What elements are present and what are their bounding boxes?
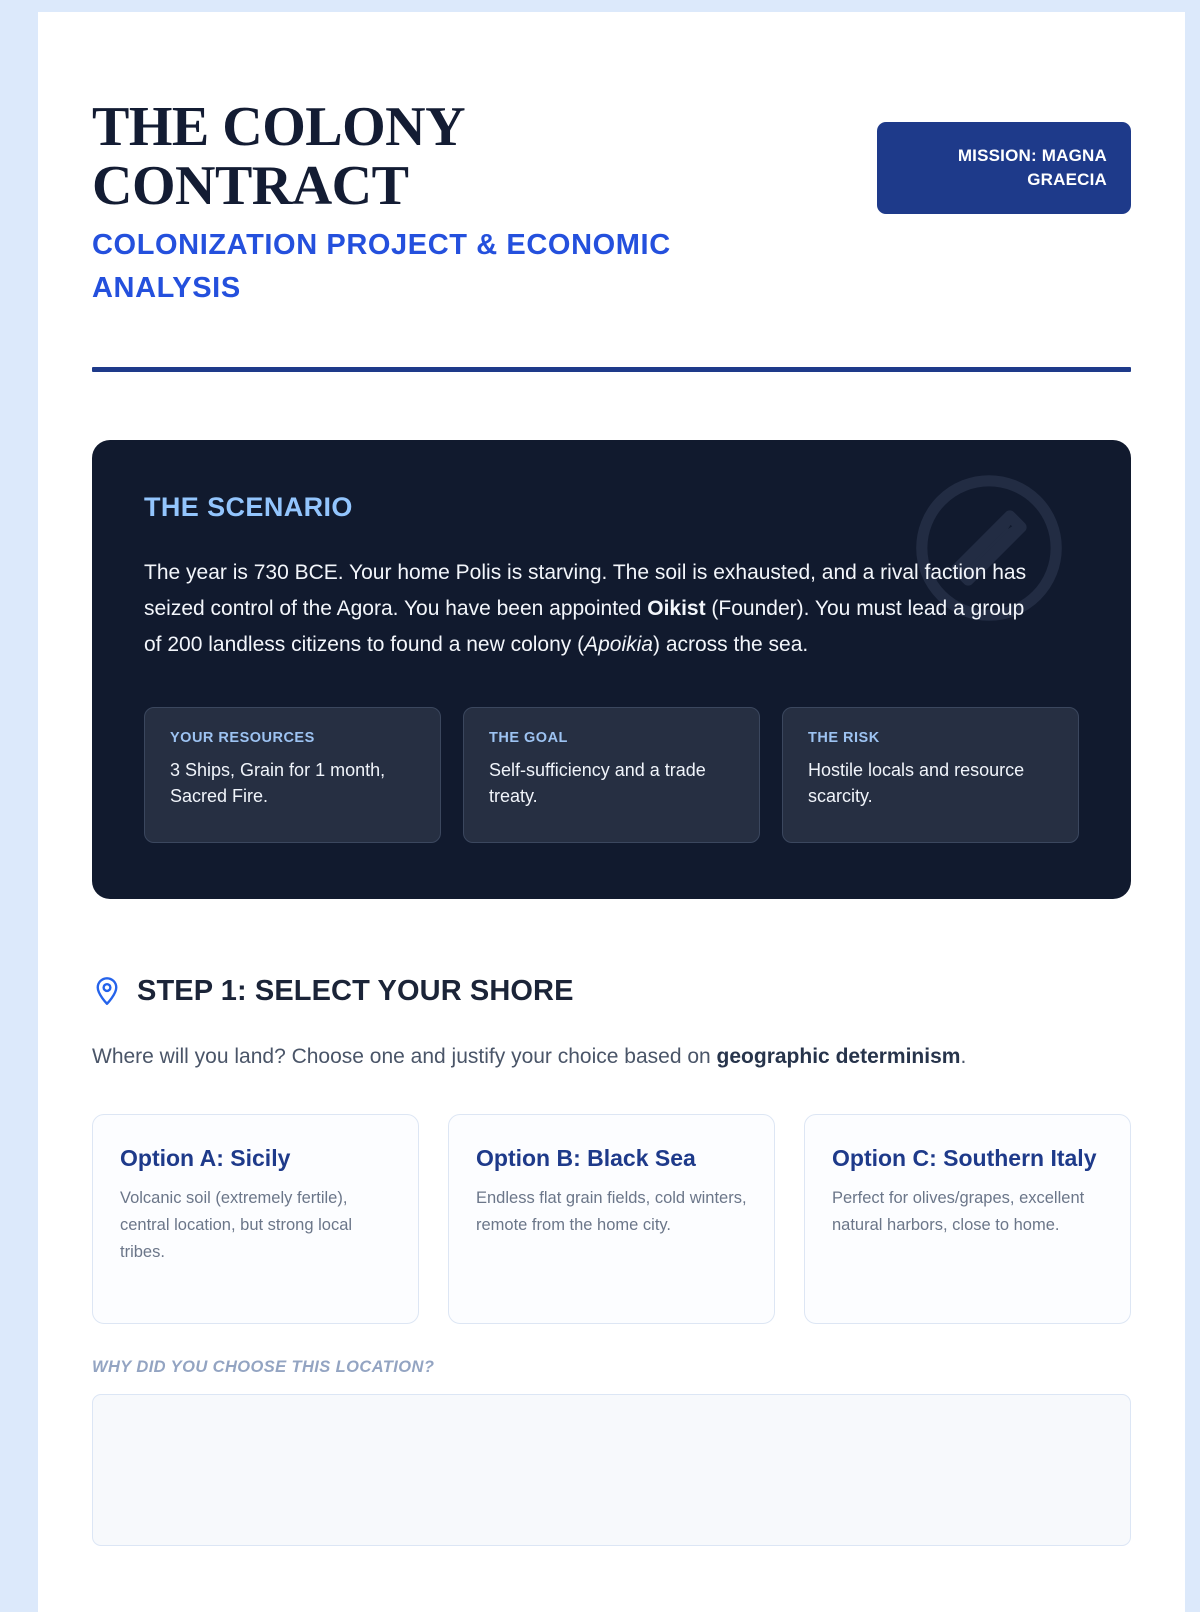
document-sheet: THE COLONY CONTRACT COLONIZATION PROJECT… bbox=[38, 12, 1185, 1612]
scenario-text-bold: Oikist bbox=[647, 597, 705, 620]
scenario-info-row: YOUR RESOURCES 3 Ships, Grain for 1 mont… bbox=[144, 707, 1079, 843]
info-label: THE RISK bbox=[808, 730, 1053, 746]
info-value: 3 Ships, Grain for 1 month, Sacred Fire. bbox=[170, 757, 415, 809]
option-description: Perfect for olives/grapes, excellent nat… bbox=[832, 1185, 1103, 1238]
option-description: Endless flat grain fields, cold winters,… bbox=[476, 1185, 747, 1238]
page-title: THE COLONY CONTRACT bbox=[92, 98, 792, 217]
header-divider bbox=[92, 367, 1131, 372]
info-value: Hostile locals and resource scarcity. bbox=[808, 757, 1053, 809]
step-intro-text-1: Where will you land? Choose one and just… bbox=[92, 1045, 717, 1068]
info-box-risk: THE RISK Hostile locals and resource sca… bbox=[782, 707, 1079, 843]
option-title: Option A: Sicily bbox=[120, 1143, 391, 1173]
scenario-text-italic: Apoikia bbox=[584, 633, 653, 656]
step-1-intro: Where will you land? Choose one and just… bbox=[92, 1040, 992, 1074]
option-card-b[interactable]: Option B: Black Sea Endless flat grain f… bbox=[448, 1114, 775, 1324]
step-intro-text-2: . bbox=[960, 1045, 966, 1068]
info-box-goal: THE GOAL Self-sufficiency and a trade tr… bbox=[463, 707, 760, 843]
map-pin-icon bbox=[92, 976, 122, 1006]
info-value: Self-sufficiency and a trade treaty. bbox=[489, 757, 734, 809]
option-description: Volcanic soil (extremely fertile), centr… bbox=[120, 1185, 391, 1265]
page-subtitle: COLONIZATION PROJECT & ECONOMIC ANALYSIS bbox=[92, 224, 792, 310]
option-card-c[interactable]: Option C: Southern Italy Perfect for oli… bbox=[804, 1114, 1131, 1324]
scenario-body: The year is 730 BCE. Your home Polis is … bbox=[144, 555, 1034, 663]
option-title: Option B: Black Sea bbox=[476, 1143, 747, 1173]
page-header: THE COLONY CONTRACT COLONIZATION PROJECT… bbox=[92, 12, 1131, 310]
info-label: YOUR RESOURCES bbox=[170, 730, 415, 746]
answer-label: WHY DID YOU CHOOSE THIS LOCATION? bbox=[92, 1358, 1131, 1377]
info-label: THE GOAL bbox=[489, 730, 734, 746]
step-1-title: STEP 1: SELECT YOUR SHORE bbox=[137, 975, 574, 1008]
option-title: Option C: Southern Italy bbox=[832, 1143, 1103, 1173]
option-cards: Option A: Sicily Volcanic soil (extremel… bbox=[92, 1114, 1131, 1324]
answer-textarea[interactable] bbox=[92, 1394, 1131, 1546]
option-card-a[interactable]: Option A: Sicily Volcanic soil (extremel… bbox=[92, 1114, 419, 1324]
info-box-resources: YOUR RESOURCES 3 Ships, Grain for 1 mont… bbox=[144, 707, 441, 843]
step-1-header: STEP 1: SELECT YOUR SHORE bbox=[92, 975, 1131, 1008]
scenario-panel: THE SCENARIO The year is 730 BCE. Your h… bbox=[92, 440, 1131, 899]
title-block: THE COLONY CONTRACT COLONIZATION PROJECT… bbox=[92, 98, 792, 310]
status-badge: MISSION: MAGNA GRAECIA bbox=[877, 122, 1131, 214]
step-1-section: STEP 1: SELECT YOUR SHORE Where will you… bbox=[92, 975, 1131, 1546]
scenario-text-3: ) across the sea. bbox=[653, 633, 808, 656]
scenario-heading: THE SCENARIO bbox=[144, 492, 1079, 523]
step-intro-bold: geographic determinism bbox=[717, 1045, 961, 1068]
